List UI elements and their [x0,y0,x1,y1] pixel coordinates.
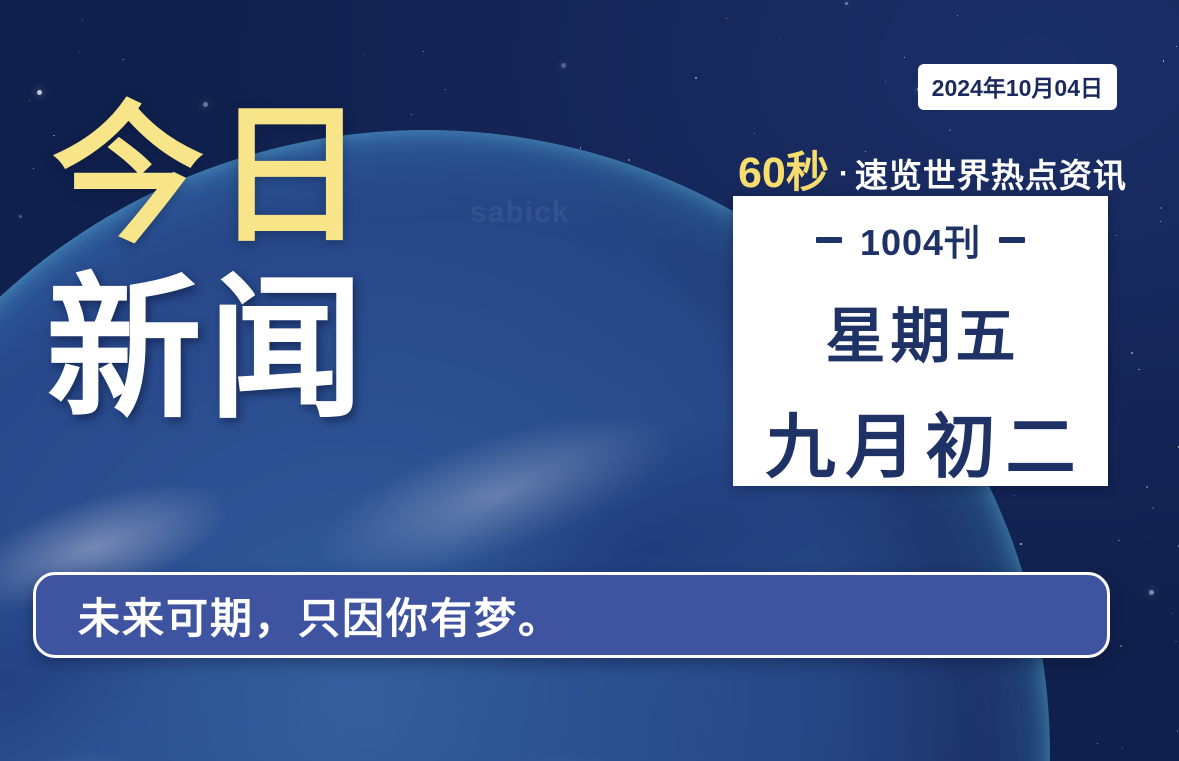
issue-row: 1004刊 [816,214,1025,266]
weekday-label: 星期五 [821,288,1021,375]
title-line-1: 今日 [52,104,376,250]
issue-number: 1004刊 [860,214,981,266]
watermark-text: sabick [470,196,569,230]
lunar-date-label: 九月初二 [756,391,1086,492]
tagline: 60秒 · 速览世界热点资讯 [738,138,1127,200]
tagline-text: 速览世界热点资讯 [855,149,1127,197]
tagline-seconds: 60秒 [738,138,829,200]
tagline-separator-dot: · [839,157,849,191]
issue-info-card: 1004刊 星期五 九月初二 [733,196,1108,486]
issue-dash-left [816,237,842,243]
page-title: 今日 新闻 [52,104,376,426]
quote-text: 未来可期，只因你有梦。 [36,585,562,646]
quote-banner: 未来可期，只因你有梦。 [33,572,1110,658]
issue-dash-right [999,237,1025,243]
news-poster: sabick 今日 新闻 2024年10月04日 60秒 · 速览世界热点资讯 … [0,0,1179,761]
title-line-2: 新闻 [46,276,376,426]
date-badge: 2024年10月04日 [918,64,1117,110]
